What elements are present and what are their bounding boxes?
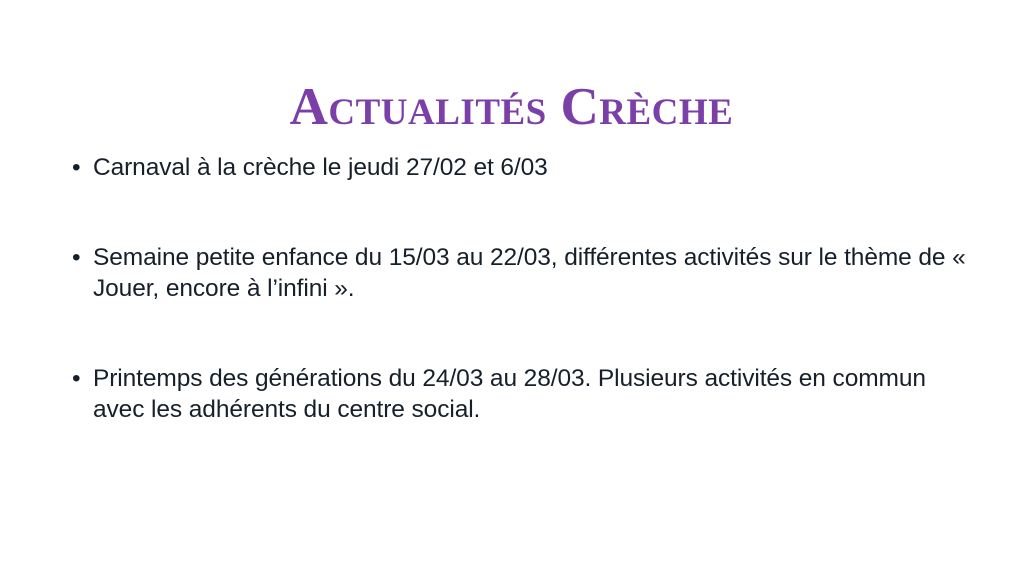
bullet-point-icon: •: [72, 242, 90, 273]
list-item: • Semaine petite enfance du 15/03 au 22/…: [68, 242, 974, 304]
list-item: • Carnaval à la crèche le jeudi 27/02 et…: [68, 152, 974, 183]
presentation-slide: Actualités Crèche • Carnaval à la crèche…: [0, 0, 1023, 567]
list-item-text: Carnaval à la crèche le jeudi 27/02 et 6…: [93, 152, 974, 183]
list-item-text: Semaine petite enfance du 15/03 au 22/03…: [93, 242, 974, 304]
bullet-point-icon: •: [72, 363, 90, 394]
list-item-text: Printemps des générations du 24/03 au 28…: [93, 363, 974, 425]
slide-title: Actualités Crèche: [0, 80, 1023, 136]
bullet-point-icon: •: [72, 152, 90, 183]
list-item: • Printemps des générations du 24/03 au …: [68, 363, 974, 425]
bullet-list: • Carnaval à la crèche le jeudi 27/02 et…: [68, 152, 974, 425]
